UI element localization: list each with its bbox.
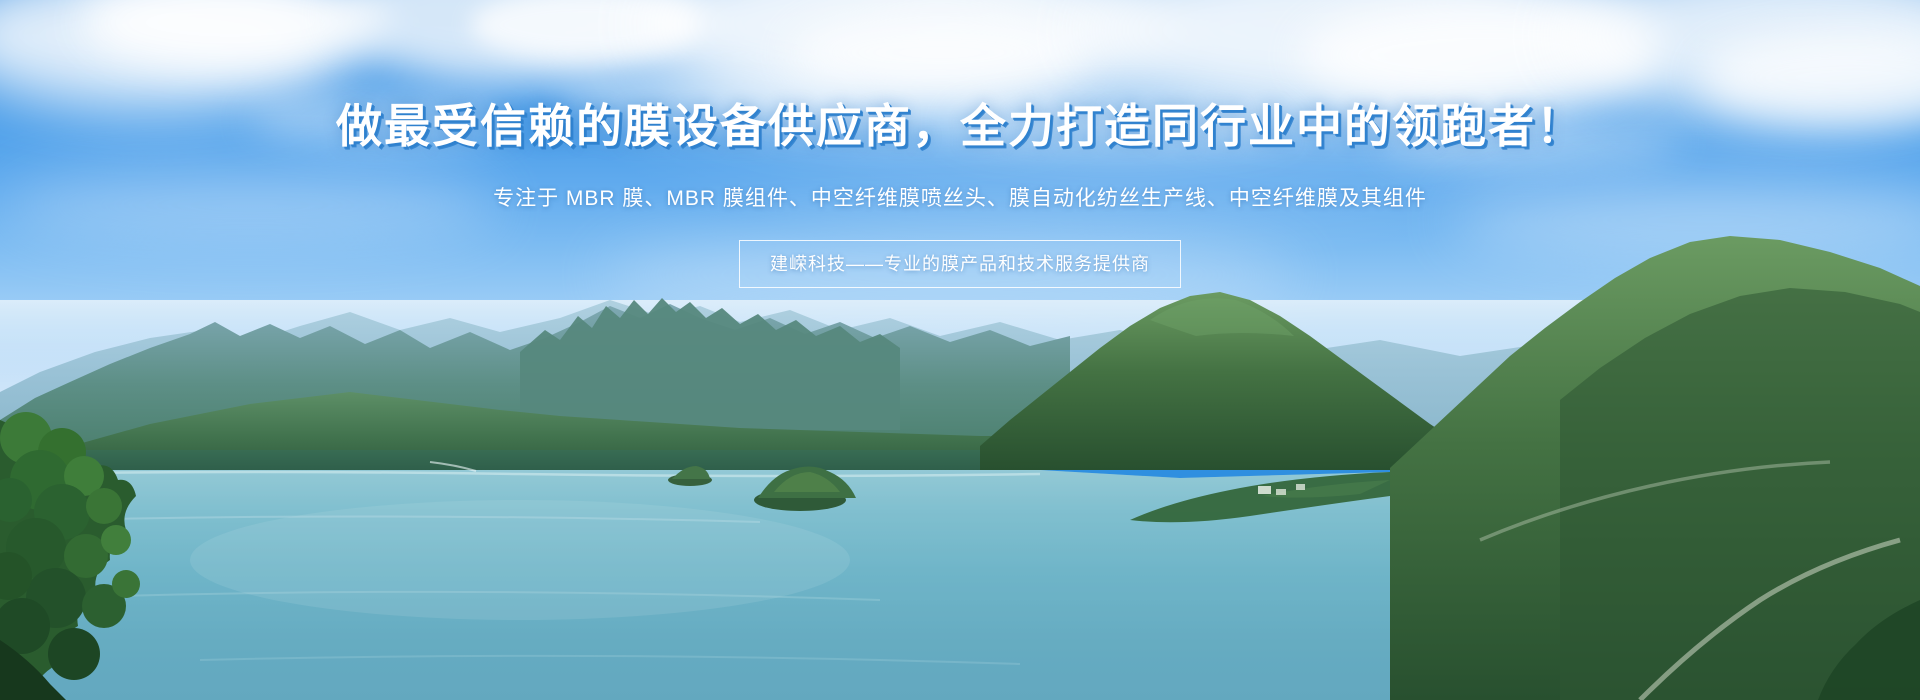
hero-banner: 做最受信赖的膜设备供应商，全力打造同行业中的领跑者！ 专注于 MBR 膜、MBR…: [0, 0, 1920, 700]
landscape-illustration: [0, 0, 1920, 700]
